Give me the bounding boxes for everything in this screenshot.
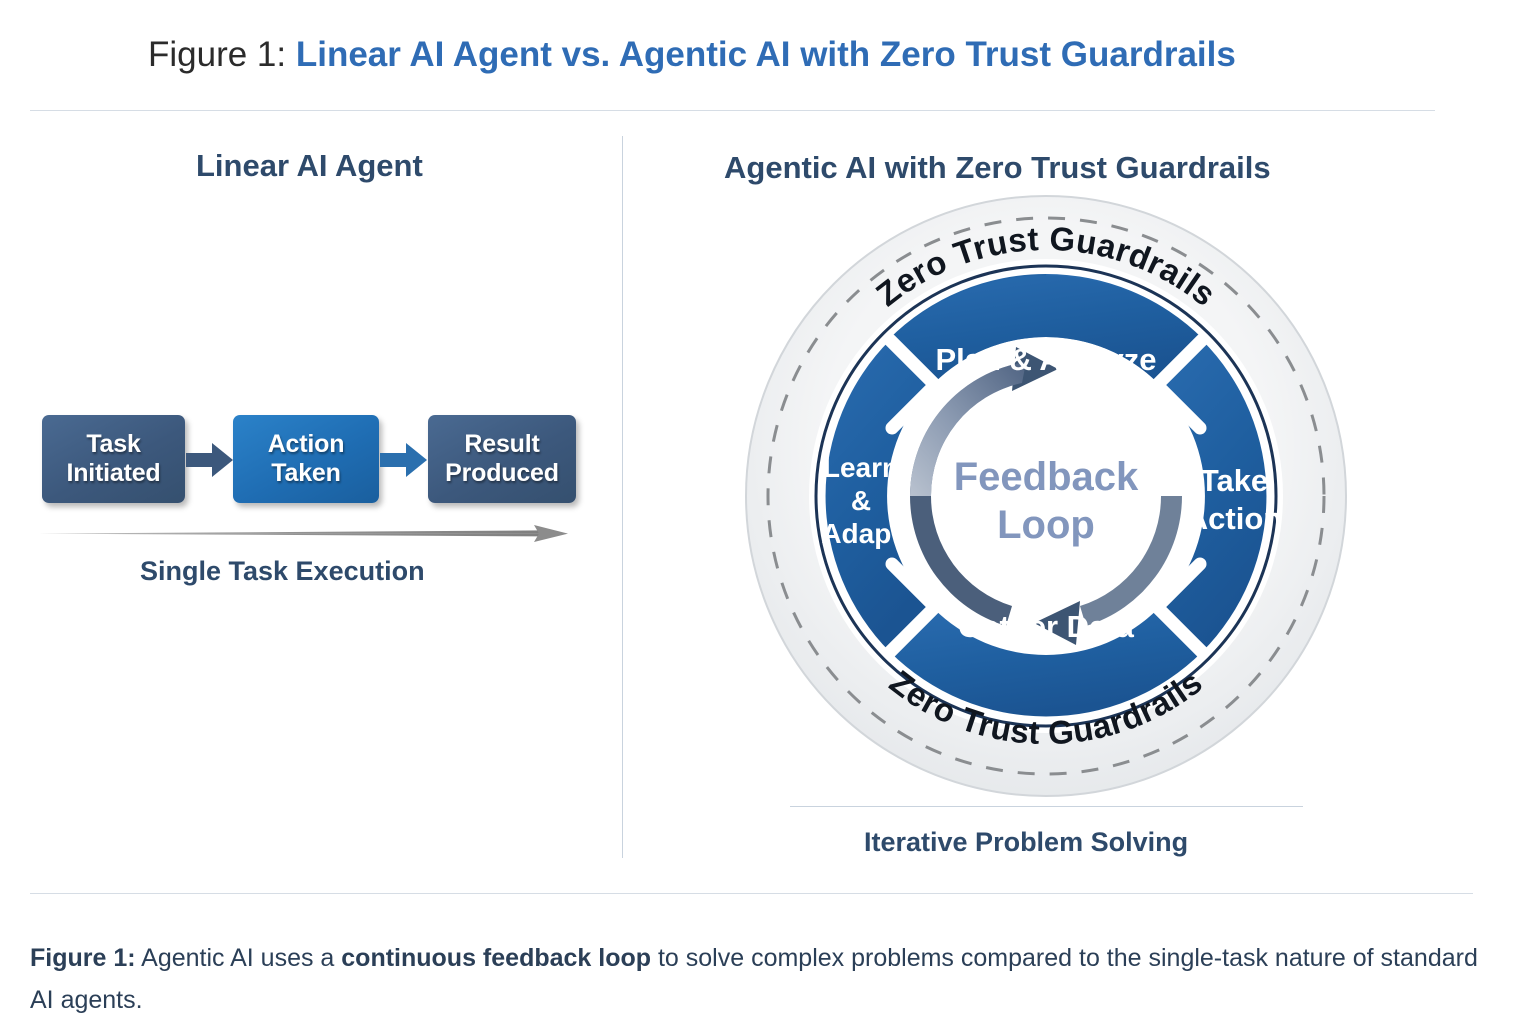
wheel-label-take-action-line1: Take bbox=[1200, 463, 1268, 498]
wheel-label-gather-data: Gather Data bbox=[958, 609, 1134, 644]
wheel-label-learn-adapt-line1: Learn bbox=[823, 452, 899, 483]
wheel-label-learn-adapt-line2: & bbox=[851, 485, 871, 516]
wheel-label-plan-analyze: Plan & Analyze bbox=[935, 342, 1156, 377]
page-title: Figure 1: Linear AI Agent vs. Agentic AI… bbox=[148, 30, 1236, 80]
iterative-problem-solving-label: Iterative Problem Solving bbox=[864, 827, 1188, 858]
left-panel-heading: Linear AI Agent bbox=[196, 148, 423, 184]
flow-arrow-icon-1 bbox=[186, 441, 234, 479]
flow-box-task-initiated-line2: Initiated bbox=[66, 459, 160, 488]
wheel-label-take-action-line2: Action bbox=[1186, 501, 1282, 536]
flow-box-result-produced: Result Produced bbox=[428, 415, 576, 503]
wheel-label-learn-adapt-line3: Adapt bbox=[821, 518, 900, 549]
flow-box-task-initiated-line1: Task bbox=[86, 430, 140, 459]
right-panel-heading: Agentic AI with Zero Trust Guardrails bbox=[724, 150, 1271, 186]
flow-box-task-initiated: Task Initiated bbox=[42, 415, 185, 503]
flow-box-action-taken-line1: Action bbox=[268, 430, 345, 459]
flow-box-result-produced-line2: Produced bbox=[445, 459, 559, 488]
flow-box-result-produced-line1: Result bbox=[464, 430, 539, 459]
divider-top bbox=[30, 110, 1435, 111]
feedback-loop-label-line2: Loop bbox=[997, 503, 1095, 547]
figure-title-label: Figure 1: bbox=[148, 35, 286, 74]
figure-title-subject: Linear AI Agent vs. Agentic AI with Zero… bbox=[296, 35, 1236, 74]
figure-caption: Figure 1: Agentic AI uses a continuous f… bbox=[30, 937, 1478, 1021]
divider-vertical-panels bbox=[622, 136, 623, 858]
flow-box-action-taken-line2: Taken bbox=[271, 459, 340, 488]
caption-prefix: Figure 1: bbox=[30, 944, 136, 972]
single-task-execution-label: Single Task Execution bbox=[140, 556, 425, 587]
agentic-ai-wheel-diagram: Zero Trust Guardrails Zero Trust Guardra… bbox=[740, 190, 1352, 802]
divider-bottom bbox=[30, 893, 1473, 894]
caption-part1: Agentic AI uses a bbox=[136, 944, 342, 972]
feedback-loop-label-line1: Feedback bbox=[954, 455, 1139, 499]
flow-arrow-icon-2 bbox=[380, 441, 428, 479]
timeline-arrow-icon bbox=[36, 520, 570, 546]
divider-under-wheel bbox=[790, 806, 1303, 807]
flow-box-action-taken: Action Taken bbox=[233, 415, 379, 503]
caption-bold: continuous feedback loop bbox=[341, 944, 651, 972]
